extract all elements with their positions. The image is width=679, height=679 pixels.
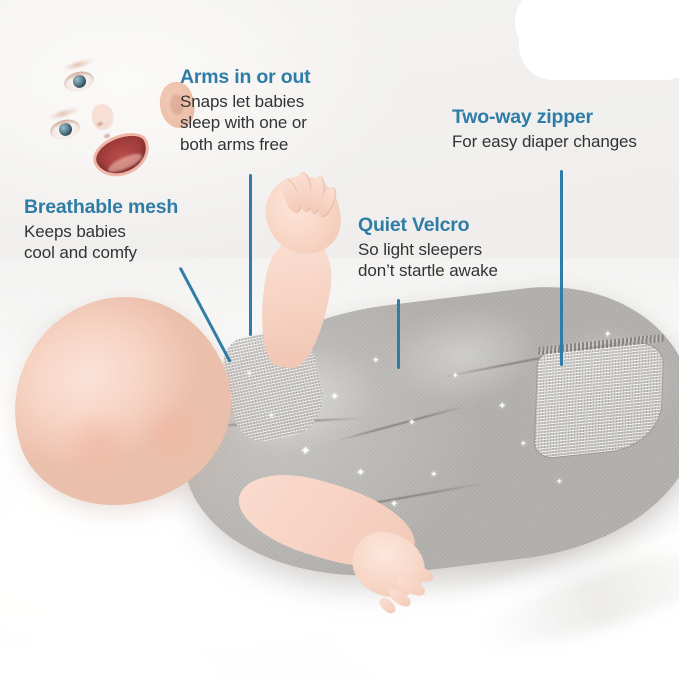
baby-nose	[89, 101, 117, 132]
callout-title: Two-way zipper	[452, 106, 637, 129]
callout-breathable-mesh: Breathable mesh Keeps babies cool and co…	[24, 196, 178, 264]
callout-body-line: both arms free	[180, 134, 310, 155]
callout-body-line: Snaps let babies	[180, 91, 310, 112]
callout-body: So light sleepers don’t startle awake	[358, 239, 498, 282]
infographic-canvas: ✦ ✦ ✦ ✦ ✦ ✦ ✦ ✦ ✦ ✦ ✦ ✦ ✦ ✦	[0, 0, 679, 679]
callout-quiet-velcro: Quiet Velcro So light sleepers don’t sta…	[358, 214, 498, 282]
callout-body: Keeps babies cool and comfy	[24, 221, 178, 264]
callout-body: For easy diaper changes	[452, 131, 637, 152]
callout-title: Arms in or out	[180, 66, 310, 89]
baby-cheek	[51, 404, 143, 485]
product-photo: ✦ ✦ ✦ ✦ ✦ ✦ ✦ ✦ ✦ ✦ ✦ ✦ ✦ ✦	[0, 0, 679, 679]
callout-body-line: cool and comfy	[24, 242, 178, 263]
baby-eye	[62, 69, 96, 95]
leader-line-quiet-velcro	[397, 299, 400, 369]
callout-body-line: sleep with one or	[180, 112, 310, 133]
baby-cheek	[130, 395, 217, 471]
callout-title: Quiet Velcro	[358, 214, 498, 237]
callout-body-line: Keeps babies	[24, 221, 178, 242]
callout-body-line: So light sleepers	[358, 239, 498, 260]
leader-line-arms	[249, 174, 252, 336]
callout-body: Snaps let babies sleep with one or both …	[180, 91, 310, 155]
baby-nostril	[103, 133, 110, 139]
callout-title: Breathable mesh	[24, 196, 178, 219]
baby-mouth	[91, 129, 152, 181]
leader-line-two-way-zipper	[560, 170, 563, 366]
callout-body-line: don’t startle awake	[358, 260, 498, 281]
callout-two-way-zipper: Two-way zipper For easy diaper changes	[452, 106, 637, 152]
callout-body-line: For easy diaper changes	[452, 131, 637, 152]
baby-eye	[48, 117, 82, 143]
callout-arms-in-or-out: Arms in or out Snaps let babies sleep wi…	[180, 66, 310, 155]
